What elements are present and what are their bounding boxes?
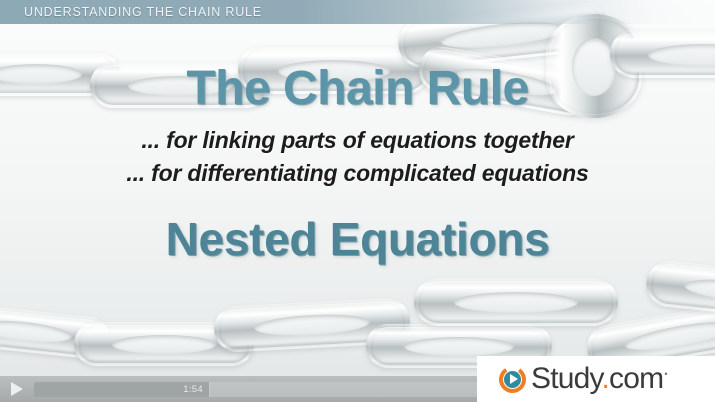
chain-link bbox=[414, 278, 618, 326]
logo-dot: . bbox=[602, 362, 610, 395]
slide-headline: The Chain Rule bbox=[0, 64, 715, 114]
slide-bullet-1: ... for linking parts of equations toget… bbox=[0, 124, 715, 157]
play-button[interactable] bbox=[0, 376, 34, 402]
chain-link-hole bbox=[683, 275, 715, 306]
studycom-wordmark: Study.com• bbox=[531, 364, 667, 394]
chain-link-hole bbox=[112, 335, 216, 354]
chain-link-hole bbox=[648, 44, 715, 66]
lesson-title-bar: UNDERSTANDING THE CHAIN RULE bbox=[0, 0, 715, 24]
slide-subheadline: Nested Equations bbox=[0, 212, 715, 266]
logo-teal-disc bbox=[504, 371, 521, 388]
slide-bullet-list: ... for linking parts of equations toget… bbox=[0, 124, 715, 189]
chain-link-hole bbox=[454, 292, 578, 313]
chain-link-hole bbox=[254, 312, 371, 338]
chain-link bbox=[644, 259, 715, 324]
play-icon bbox=[11, 382, 23, 396]
logo-word-study: Study bbox=[531, 362, 602, 395]
slide-content: The Chain Rule ... for linking parts of … bbox=[0, 64, 715, 266]
logo-word-com: com bbox=[609, 362, 663, 395]
logo-trademark: • bbox=[664, 369, 666, 379]
logo-play-triangle-icon bbox=[510, 374, 518, 384]
lesson-title-text: UNDERSTANDING THE CHAIN RULE bbox=[0, 5, 262, 19]
chain-link-hole bbox=[0, 317, 73, 346]
chain-link-hole bbox=[623, 316, 715, 355]
chain-link bbox=[0, 301, 112, 361]
chain-link bbox=[74, 322, 254, 366]
studycom-logo[interactable]: Study.com• bbox=[477, 356, 715, 402]
studycom-play-circle-icon bbox=[499, 366, 526, 393]
chain-link bbox=[213, 297, 411, 353]
slide-bullet-2: ... for differentiating complicated equa… bbox=[0, 157, 715, 190]
video-player-frame: UNDERSTANDING THE CHAIN RULE The Chain R… bbox=[0, 0, 715, 402]
current-time-label: 1:54 bbox=[34, 382, 209, 397]
chain-link-hole bbox=[404, 337, 514, 356]
